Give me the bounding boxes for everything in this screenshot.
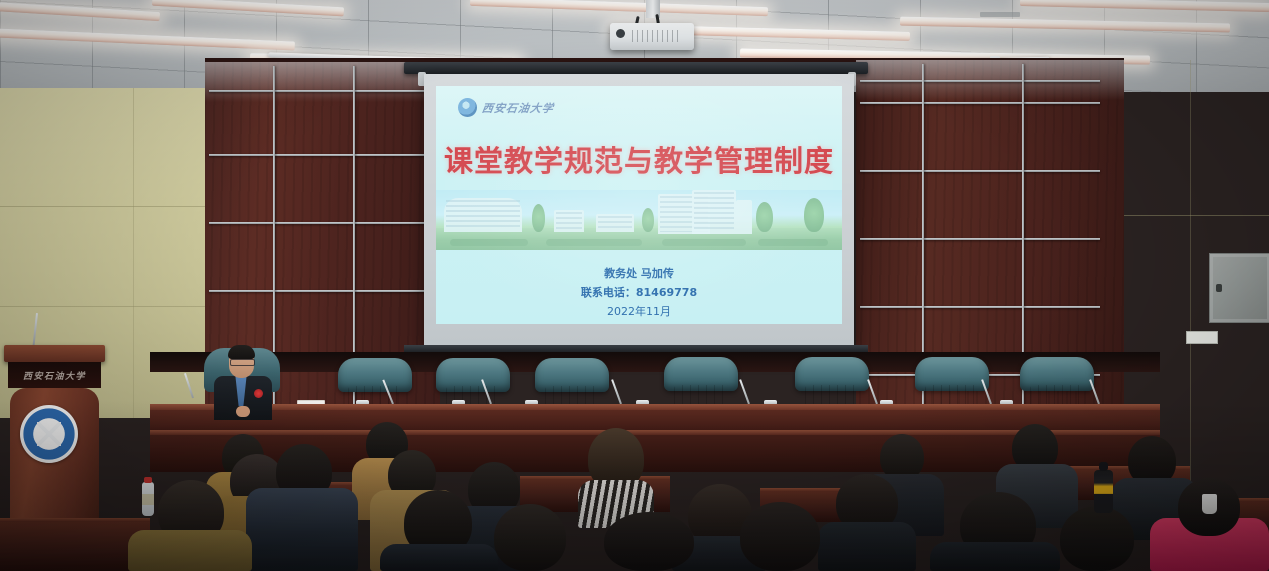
projector-vents: [632, 30, 682, 42]
table-microphone: [739, 379, 750, 404]
slide-logo: 西安石油大学: [458, 98, 554, 117]
campus-photo-band: [436, 190, 842, 250]
table-microphone: [611, 379, 622, 404]
panel-trim: [860, 170, 1100, 172]
lectern-nameband: 西安石油大学: [8, 362, 101, 388]
paper-cup: [1202, 494, 1217, 514]
stage-chair: [338, 358, 412, 410]
stage-chair: [436, 358, 510, 410]
bench-top: [0, 518, 150, 522]
projection-haze: [436, 190, 842, 250]
panel-trim: [209, 154, 437, 156]
lectern-top: [4, 345, 105, 362]
audience-body: [246, 488, 358, 571]
audience-body: [380, 544, 498, 571]
bottle-cap: [144, 477, 152, 483]
panel-trim: [209, 222, 437, 224]
slide-credits: 教务处 马加传 联系电话：81469778 2022年11月: [436, 264, 842, 321]
slide-presenter-line: 教务处 马加传: [436, 264, 842, 283]
audience-body: [930, 542, 1060, 571]
audience-body: [128, 530, 252, 571]
slide-date-line: 2022年11月: [436, 302, 842, 321]
projection-screen: 西安石油大学 课堂教学规范与教学管理制度: [424, 74, 854, 345]
panel-trim: [209, 90, 437, 92]
stage-chair: [1020, 357, 1094, 409]
panel-trim: [209, 290, 437, 292]
table-edge: [150, 404, 1160, 410]
wall-signage-plate: [1186, 331, 1218, 344]
thermos-cap: [1099, 462, 1108, 471]
stage-chair: [795, 357, 869, 409]
ceiling-projector: [610, 23, 694, 50]
slide-title: 课堂教学规范与教学管理制度: [436, 138, 842, 180]
panel-trim: [860, 306, 1100, 308]
lapel-badge: [254, 389, 263, 398]
bottle-label: [142, 494, 154, 505]
projector-lens: [616, 29, 625, 38]
university-logo-text: 西安石油大学: [481, 100, 555, 116]
panel-trim: [860, 102, 1100, 104]
thermos-flask: [1094, 470, 1113, 513]
panel-trim: [860, 238, 1100, 240]
stage-chair: [664, 357, 738, 409]
lecture-hall-photo: 西安石油大学 课堂教学规范与教学管理制度: [0, 0, 1269, 571]
ceiling-vent: [980, 12, 1020, 17]
university-logo-icon: [458, 98, 477, 117]
presenter-hand: [236, 406, 250, 417]
audience-head: [494, 504, 566, 571]
glasses-icon: [230, 359, 255, 366]
lectern-text: 西安石油大学: [23, 369, 86, 382]
audience-head: [740, 502, 820, 571]
presenter: [206, 340, 278, 418]
stage-backdrop: [150, 352, 1160, 372]
panel-trim: [860, 80, 1100, 82]
stage-chair: [915, 357, 989, 409]
audience-head: [1060, 506, 1134, 571]
water-bottle: [142, 482, 154, 516]
screen-housing[interactable]: [404, 62, 868, 74]
audience-body: [818, 522, 916, 571]
presenter-hair: [228, 345, 255, 359]
stage-chair: [535, 358, 609, 410]
audience-head: [604, 512, 694, 571]
electrical-panel-door: [1209, 253, 1269, 323]
panel-latch: [1216, 284, 1222, 292]
presentation-slide: 西安石油大学 课堂教学规范与教学管理制度: [436, 86, 842, 324]
audience-area: [0, 418, 1269, 571]
slide-phone-line: 联系电话：81469778: [436, 283, 842, 302]
